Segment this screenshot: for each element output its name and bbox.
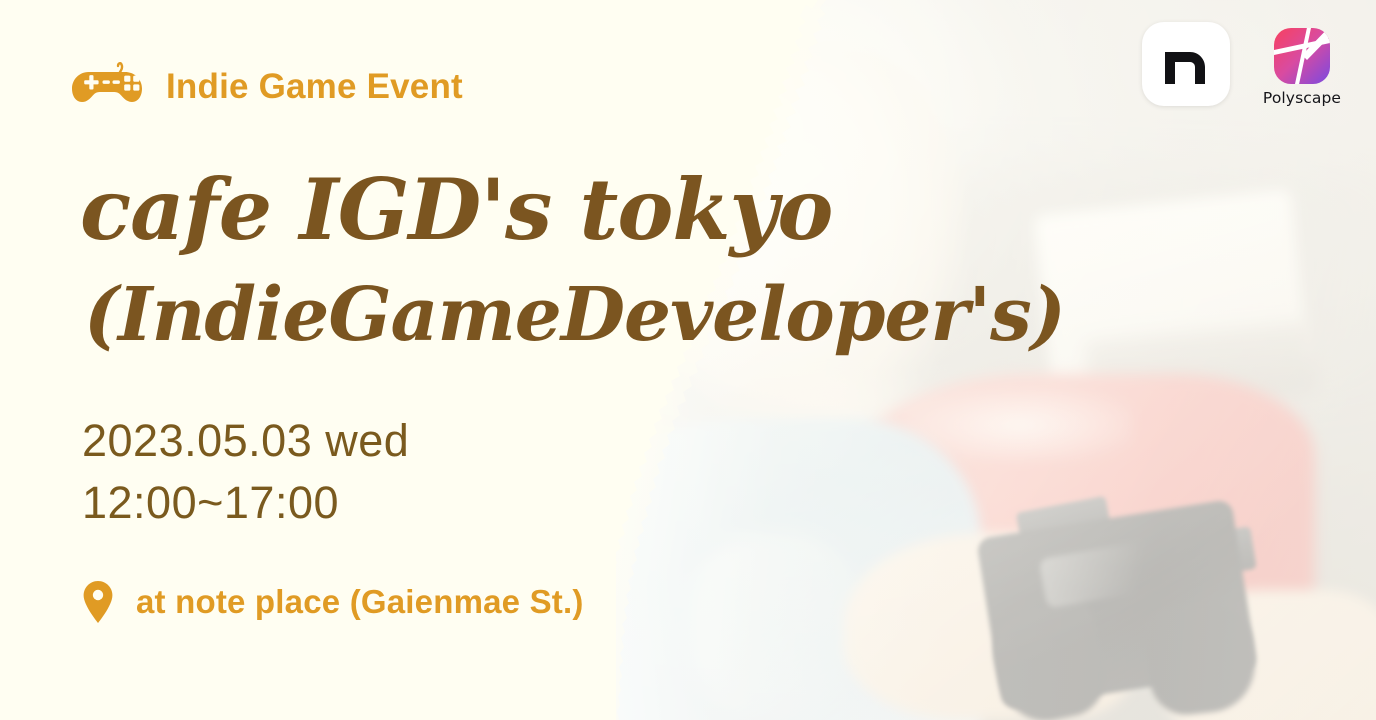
event-date: 2023.05.03 wed bbox=[82, 410, 820, 472]
event-category-label: Indie Game Event bbox=[166, 67, 463, 107]
event-title: cafe IGD's tokyo (IndieGameDeveloper's) bbox=[70, 168, 820, 352]
gamepad-icon bbox=[70, 62, 144, 112]
event-venue: at note place (Gaienmae St.) bbox=[82, 580, 820, 624]
event-title-line-1: cafe IGD's tokyo bbox=[80, 168, 820, 252]
event-category: Indie Game Event bbox=[70, 58, 820, 116]
event-poster: Indie Game Event cafe IGD's tokyo (Indie… bbox=[0, 0, 1376, 720]
event-datetime: 2023.05.03 wed 12:00~17:00 bbox=[82, 410, 820, 534]
polyscape-logo-icon: Polyscape bbox=[1256, 22, 1348, 107]
event-title-line-2: (IndieGameDeveloper's) bbox=[84, 278, 820, 352]
location-pin-icon bbox=[82, 580, 114, 624]
poster-content: Indie Game Event cafe IGD's tokyo (Indie… bbox=[0, 0, 820, 720]
event-time: 12:00~17:00 bbox=[82, 472, 820, 534]
note-logo-icon bbox=[1142, 22, 1230, 106]
sponsor-logos: Polyscape bbox=[1142, 22, 1348, 107]
polyscape-wordmark: Polyscape bbox=[1263, 91, 1341, 107]
event-venue-label: at note place (Gaienmae St.) bbox=[136, 583, 584, 621]
